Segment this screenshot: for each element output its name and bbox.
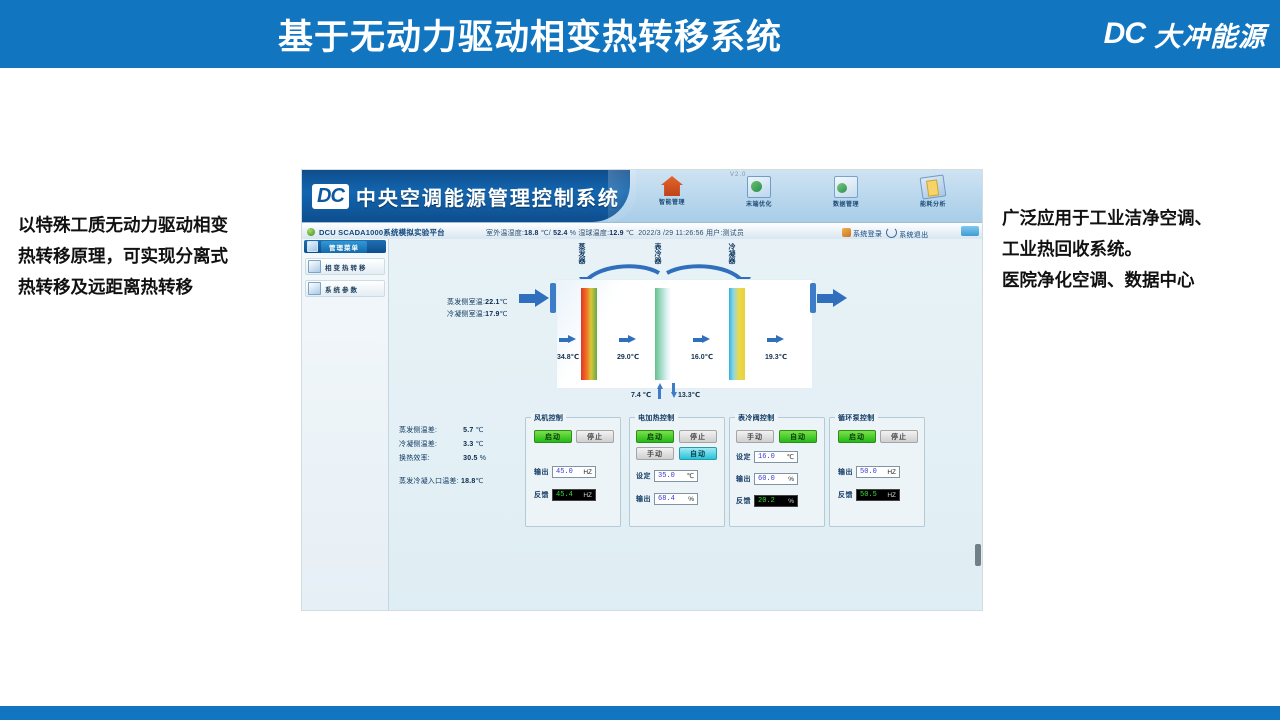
panel-cooling-valve-control: 表冷阀控制 手动 自动 设定 16.0 ℃ 输出 60.0 % 反馈 xyxy=(729,417,825,527)
inlet-delta-value: 18.8 xyxy=(461,478,475,485)
panel-fan-control: 风机控制 启动 停止 输出 45.0 HZ 反馈 45.4 HZ xyxy=(525,417,621,527)
heater-output-field[interactable]: 68.4 % xyxy=(654,493,698,505)
page-title: 基于无动力驱动相变热转移系统 xyxy=(0,0,1060,68)
wetbulb-unit: ℃ xyxy=(626,230,634,237)
outlet-damper xyxy=(810,283,816,313)
cooling-coil xyxy=(655,288,671,380)
module-icon xyxy=(308,282,321,295)
scada-sidebar: 管理菜单 相变热转移 系统参数 xyxy=(302,239,389,610)
air-temp-3: 16.0℃ xyxy=(691,353,713,361)
fan-output-value: 45.0 xyxy=(556,468,573,476)
database-icon xyxy=(834,176,858,198)
inlet-airflow-arrow xyxy=(519,289,549,308)
air-temp-1: 34.8℃ xyxy=(557,353,579,361)
valve-output-row: 输出 60.0 % xyxy=(736,473,798,485)
module-icon xyxy=(308,260,321,273)
login-button[interactable]: 系统登录 xyxy=(842,228,882,239)
status-chip[interactable] xyxy=(961,226,979,236)
outdoor-label: 室外温湿度: xyxy=(486,230,524,237)
fan-stop-button[interactable]: 停止 xyxy=(576,430,614,443)
nav-item-terminal-optimization[interactable]: 末端优化 xyxy=(725,176,793,208)
loop-temp-2: 13.3℃ xyxy=(678,391,700,399)
left-description: 以特殊工质无动力驱动相变 热转移原理，可实现分离式 热转移及远距离热转移 xyxy=(18,210,288,303)
evaporator-room-temp: 蒸发侧室温:22.1℃ xyxy=(447,297,508,309)
valve-feedback-label: 反馈 xyxy=(736,496,751,506)
heater-output-label: 输出 xyxy=(636,494,651,504)
performance-stats: 蒸发侧温差: 5.7 ℃ 冷凝侧温差: 3.3 ℃ 换热效率: 30.5 % 蒸… xyxy=(399,424,486,489)
heater-setpoint-row: 设定 35.0 ℃ xyxy=(636,470,698,482)
valve-setpoint-value: 16.0 xyxy=(758,453,775,461)
stat-unit-0: ℃ xyxy=(476,427,484,434)
pump-feedback-unit: HZ xyxy=(887,492,896,499)
air-temp-4: 19.3℃ xyxy=(765,353,787,361)
inlet-delta-unit: ℃ xyxy=(475,478,483,485)
fan-start-button[interactable]: 启动 xyxy=(534,430,572,443)
pump-feedback-row: 反馈 50.5 HZ xyxy=(838,489,900,501)
datetime: 2022/3 /29 11:26:56 xyxy=(638,230,704,237)
pump-feedback-field: 50.5 HZ xyxy=(856,489,900,501)
loop-temp-1: 7.4 ℃ xyxy=(631,391,651,399)
right-description: 广泛应用于工业洁净空调、 工业热回收系统。 医院净化空调、数据中心 xyxy=(1002,203,1280,296)
outdoor-temp: 18.8 xyxy=(524,230,538,237)
menu-icon xyxy=(307,241,318,252)
nav-label-3: 能耗分析 xyxy=(899,199,967,208)
outlet-airflow-arrow xyxy=(817,289,847,308)
airflow-arrow-2 xyxy=(619,335,636,344)
stat-row-2: 换热效率: 30.5 % xyxy=(399,452,486,466)
inlet-delta-label: 蒸发冷凝入口温差: xyxy=(399,475,461,489)
user-icon xyxy=(842,228,851,237)
pump-output-field[interactable]: 50.0 HZ xyxy=(856,466,900,478)
valve-feedback-field: 20.2 % xyxy=(754,495,798,507)
panel-title-0: 风机控制 xyxy=(531,413,566,423)
brand-logo: DC 大冲能源 xyxy=(1104,12,1266,56)
pump-feedback-value: 50.5 xyxy=(860,491,877,499)
fan-output-row: 输出 45.0 HZ xyxy=(534,466,596,478)
scada-screenshot: DC 中央空调能源管理控制系统 V2.0 智能管理 末端优化 数据管理 能耗分析… xyxy=(302,170,982,610)
scrollbar-thumb[interactable] xyxy=(975,544,981,566)
condenser-room-label: 冷凝侧室温: xyxy=(447,311,485,318)
valve-feedback-row: 反馈 20.2 % xyxy=(736,495,798,507)
scada-main-canvas: 蒸发侧室温:22.1℃ 冷凝侧室温:17.9℃ 蒸发器 表冷器 冷凝器 34.8… xyxy=(389,239,982,610)
heat-exchanger-diagram: 34.8℃ 29.0℃ 16.0℃ 19.3℃ xyxy=(556,279,813,389)
stat-label-2: 换热效率: xyxy=(399,452,461,466)
logout-label: 系统退出 xyxy=(899,232,928,239)
valve-auto-button[interactable]: 自动 xyxy=(779,430,817,443)
condenser-room-value: 17.9 xyxy=(485,311,499,318)
fan-output-field[interactable]: 45.0 HZ xyxy=(552,466,596,478)
pump-output-label: 输出 xyxy=(838,467,853,477)
nav-item-smart-management[interactable]: 智能管理 xyxy=(638,176,706,206)
nav-label-2: 数据管理 xyxy=(812,199,880,208)
status-indicator-icon xyxy=(307,228,315,236)
sidebar-item-system-params[interactable]: 系统参数 xyxy=(305,280,385,297)
airflow-arrow-3 xyxy=(693,335,710,344)
fan-feedback-row: 反馈 45.4 HZ xyxy=(534,489,596,501)
stat-unit-2: % xyxy=(480,455,486,462)
nav-label-0: 智能管理 xyxy=(638,197,706,206)
airflow-arrow-4 xyxy=(767,335,784,344)
fan-output-unit: HZ xyxy=(583,469,592,476)
heater-setpoint-unit: ℃ xyxy=(687,472,694,480)
valve-feedback-value: 20.2 xyxy=(758,497,775,505)
stat-row-0: 蒸发侧温差: 5.7 ℃ xyxy=(399,424,486,438)
nav-item-data-management[interactable]: 数据管理 xyxy=(812,176,880,208)
loop-arrow-up xyxy=(657,383,662,399)
panel-circulation-pump-control: 循环泵控制 启动 停止 输出 50.0 HZ 反馈 50.5 HZ xyxy=(829,417,925,527)
pump-output-value: 50.0 xyxy=(860,468,877,476)
heater-manual-button[interactable]: 手动 xyxy=(636,447,674,460)
heater-start-button[interactable]: 启动 xyxy=(636,430,674,443)
pump-output-unit: HZ xyxy=(887,469,896,476)
condenser-coil xyxy=(729,288,745,380)
stat-row-1: 冷凝侧温差: 3.3 ℃ xyxy=(399,438,486,452)
valve-setpoint-row: 设定 16.0 ℃ xyxy=(736,451,798,463)
inlet-damper xyxy=(550,283,556,313)
right-line-3: 医院净化空调、数据中心 xyxy=(1002,265,1280,296)
left-line-2: 热转移原理，可实现分离式 xyxy=(18,241,288,272)
heater-output-row: 输出 68.4 % xyxy=(636,493,698,505)
scada-logo: DC xyxy=(312,184,349,209)
condenser-room-temp: 冷凝侧室温:17.9℃ xyxy=(447,309,508,321)
login-label: 系统登录 xyxy=(853,231,882,238)
valve-manual-button[interactable]: 手动 xyxy=(736,430,774,443)
stat-value-1: 3.3 xyxy=(463,441,473,448)
heater-auto-button[interactable]: 自动 xyxy=(679,447,717,460)
valve-setpoint-field[interactable]: 16.0 ℃ xyxy=(754,451,798,463)
pump-start-button[interactable]: 启动 xyxy=(838,430,876,443)
environment-readouts: 室外温湿度:18.8 ℃/ 52.4 % 湿球温度:12.9 ℃ 2022/3 … xyxy=(486,228,744,238)
slide-header: 基于无动力驱动相变热转移系统 DC 大冲能源 xyxy=(0,0,1280,68)
right-line-1: 广泛应用于工业洁净空调、 xyxy=(1002,203,1280,234)
outdoor-humidity: 52.4 xyxy=(553,230,567,237)
wetbulb-value: 12.9 xyxy=(609,230,623,237)
panel-title-2: 表冷阀控制 xyxy=(735,413,778,423)
air-temp-2: 29.0℃ xyxy=(617,353,639,361)
user-name: 测试员 xyxy=(722,230,744,237)
analysis-icon xyxy=(920,174,947,199)
evaporator-room-label: 蒸发侧室温: xyxy=(447,299,485,306)
valve-output-unit: % xyxy=(788,476,794,483)
valve-feedback-unit: % xyxy=(788,498,794,505)
optimize-icon xyxy=(747,176,771,198)
panel-electric-heater-control: 电加热控制 启动 停止 手动 自动 设定 35.0 ℃ 输出 68.4 % xyxy=(629,417,725,527)
heater-stop-button[interactable]: 停止 xyxy=(679,430,717,443)
room-temperature-readouts: 蒸发侧室温:22.1℃ 冷凝侧室温:17.9℃ xyxy=(447,297,508,321)
valve-output-label: 输出 xyxy=(736,474,751,484)
nav-item-energy-analysis[interactable]: 能耗分析 xyxy=(899,176,967,208)
stat-value-2: 30.5 xyxy=(463,455,477,462)
fan-output-label: 输出 xyxy=(534,467,549,477)
heater-output-unit: % xyxy=(688,496,694,503)
fan-feedback-field: 45.4 HZ xyxy=(552,489,596,501)
wetbulb-label: 湿球温度: xyxy=(578,230,609,237)
evaporator-room-unit: ℃ xyxy=(500,299,508,306)
sidebar-item-label-0: 相变热转移 xyxy=(325,262,368,272)
left-line-3: 热转移及远距离热转移 xyxy=(18,272,288,303)
valve-output-field[interactable]: 60.0 % xyxy=(754,473,798,485)
user-label: 用户: xyxy=(706,230,723,237)
heater-setpoint-field[interactable]: 35.0 ℃ xyxy=(654,470,698,482)
scada-banner-title: 中央空调能源管理控制系统 xyxy=(356,182,620,211)
right-line-2: 工业热回收系统。 xyxy=(1002,234,1280,265)
inlet-delta-row: 蒸发冷凝入口温差:18.8℃ xyxy=(399,475,486,489)
fan-feedback-label: 反馈 xyxy=(534,490,549,500)
brand-name: 大冲能源 xyxy=(1154,15,1266,54)
fan-feedback-value: 45.4 xyxy=(556,491,573,499)
evaporator-room-value: 22.1 xyxy=(485,299,499,306)
loop-arrow-down xyxy=(671,383,676,399)
stat-value-0: 5.7 xyxy=(463,427,473,434)
scada-banner: DC 中央空调能源管理控制系统 V2.0 智能管理 末端优化 数据管理 能耗分析 xyxy=(302,170,982,222)
stat-label-0: 蒸发侧温差: xyxy=(399,424,461,438)
platform-name: DCU SCADA1000系统模拟实验平台 xyxy=(319,227,445,238)
sidebar-header-label: 管理菜单 xyxy=(321,241,367,253)
heater-setpoint-value: 35.0 xyxy=(658,472,675,480)
sidebar-header: 管理菜单 xyxy=(304,240,386,253)
pump-stop-button[interactable]: 停止 xyxy=(880,430,918,443)
valve-output-value: 60.0 xyxy=(758,475,775,483)
brand-mark: DC xyxy=(1104,17,1145,51)
scada-banner-left: DC 中央空调能源管理控制系统 xyxy=(302,170,630,222)
pump-feedback-label: 反馈 xyxy=(838,490,853,500)
panel-title-3: 循环泵控制 xyxy=(835,413,878,423)
outdoor-humidity-unit: % xyxy=(570,230,576,237)
home-icon xyxy=(661,176,683,196)
left-line-1: 以特殊工质无动力驱动相变 xyxy=(18,210,288,241)
airflow-arrow-1 xyxy=(559,335,576,344)
stat-label-1: 冷凝侧温差: xyxy=(399,438,461,452)
stat-unit-1: ℃ xyxy=(476,441,484,448)
valve-setpoint-unit: ℃ xyxy=(787,453,794,461)
power-icon xyxy=(886,227,897,238)
condenser-room-unit: ℃ xyxy=(500,311,508,318)
sidebar-item-phase-change[interactable]: 相变热转移 xyxy=(305,258,385,275)
nav-label-1: 末端优化 xyxy=(725,199,793,208)
panel-title-1: 电加热控制 xyxy=(635,413,678,423)
slide-footer xyxy=(0,706,1280,720)
outdoor-unit: ℃/ xyxy=(541,230,551,237)
heater-output-value: 68.4 xyxy=(658,495,675,503)
sidebar-item-label-1: 系统参数 xyxy=(325,284,359,294)
valve-setpoint-label: 设定 xyxy=(736,452,751,462)
heater-setpoint-label: 设定 xyxy=(636,471,651,481)
evaporator-coil xyxy=(581,288,597,380)
pump-output-row: 输出 50.0 HZ xyxy=(838,466,900,478)
header-divider xyxy=(0,68,1280,72)
fan-feedback-unit: HZ xyxy=(583,492,592,499)
